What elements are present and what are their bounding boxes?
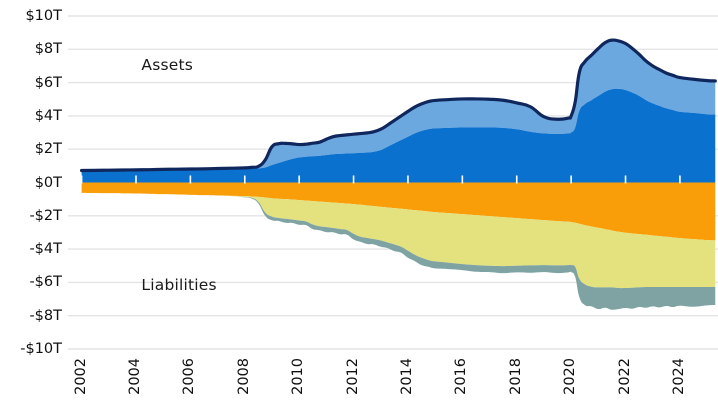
y-axis-tick-label: -$10T xyxy=(4,342,62,357)
x-axis-tick-label: 2012 xyxy=(346,358,361,395)
x-axis-tick-label: 2002 xyxy=(74,358,89,395)
liabilities-label: Liabilities xyxy=(141,276,216,294)
x-axis-tick-label: 2020 xyxy=(563,358,578,395)
y-axis-tick-label: -$6T xyxy=(4,275,62,290)
x-axis-tick-label: 2022 xyxy=(618,358,633,395)
y-axis-tick-label: $10T xyxy=(4,9,62,24)
y-axis-tick-label: -$8T xyxy=(4,308,62,323)
x-axis-tick-label: 2008 xyxy=(237,358,252,395)
assets-label: Assets xyxy=(141,56,193,74)
x-axis-tick-label: 2016 xyxy=(454,358,469,395)
y-axis-tick-label: $6T xyxy=(4,75,62,90)
stacked-areas xyxy=(82,40,716,310)
y-axis-tick-label: -$4T xyxy=(4,242,62,257)
x-axis-tick-label: 2004 xyxy=(128,358,143,395)
y-axis-tick-label: $2T xyxy=(4,142,62,157)
y-axis-tick-label: $8T xyxy=(4,42,62,57)
x-axis-tick-label: 2018 xyxy=(509,358,524,395)
x-axis-tick-label: 2014 xyxy=(400,358,415,395)
balance-sheet-chart: $10T$8T$6T$4T$2T$0T-$2T-$4T-$6T-$8T-$10T… xyxy=(0,0,718,417)
y-axis-tick-label: $4T xyxy=(4,109,62,124)
y-axis-tick-label: $0T xyxy=(4,175,62,190)
y-axis-labels: $10T$8T$6T$4T$2T$0T-$2T-$4T-$6T-$8T-$10T xyxy=(0,0,62,417)
x-axis-tick-label: 2010 xyxy=(291,358,306,395)
x-axis-labels: 2002200420062008201020122014201620182020… xyxy=(0,358,718,417)
x-axis-tick-label: 2024 xyxy=(672,358,687,395)
y-axis-tick-label: -$2T xyxy=(4,209,62,224)
chart-plot-area xyxy=(0,0,718,417)
x-axis-tick-label: 2006 xyxy=(182,358,197,395)
